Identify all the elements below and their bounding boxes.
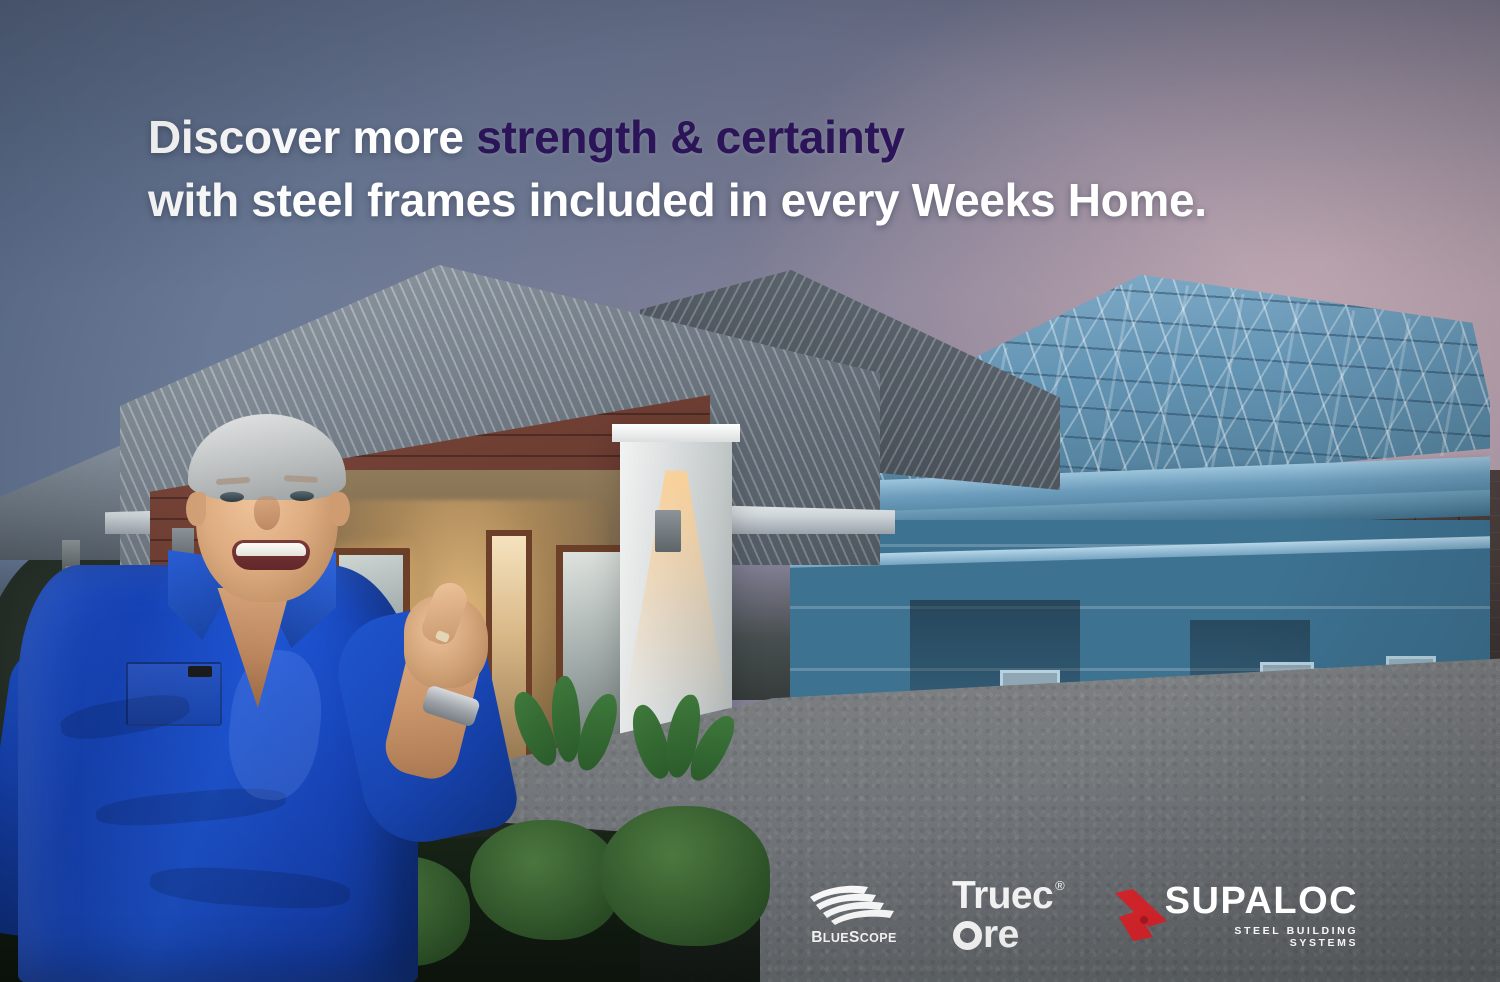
truecore-registered-mark: ® (1055, 878, 1065, 893)
wall-light-fixture-main (655, 510, 681, 552)
supaloc-wordmark: SUPALOC (1165, 882, 1358, 920)
teeth (236, 543, 306, 556)
mouth-smile (232, 540, 310, 570)
bluescope-s: S (849, 929, 860, 946)
headline-line-2: with steel frames included in every Week… (148, 169, 1348, 232)
bluescope-logo: BLUESCOPE (806, 884, 902, 947)
bluescope-wave-mark-icon (806, 884, 902, 926)
headline-lead-text: Discover more (148, 111, 476, 163)
partner-logo-bar: BLUESCOPE Truecre ® SUPALOC STEEL BU (806, 876, 1346, 954)
entry-pillar-cap (612, 424, 740, 442)
bluescope-wordmark: BLUESCOPE (811, 929, 897, 947)
truecore-wordmark: Truecre (952, 876, 1053, 954)
headline-line-1: Discover more strength & certainty (148, 106, 1348, 169)
presenter-person (0, 400, 520, 982)
ear-left (186, 492, 206, 526)
headline-accent-text: strength & certainty (476, 111, 905, 163)
bluescope-cope: COPE (860, 931, 897, 945)
supaloc-logo: SUPALOC STEEL BUILDING SYSTEMS (1113, 882, 1358, 949)
truecore-text-post: re (983, 913, 1019, 956)
nose (254, 496, 280, 530)
headline: Discover more strength & certainty with … (148, 106, 1348, 231)
ear-right (330, 492, 350, 526)
truecore-ring-o-icon (953, 921, 982, 950)
supaloc-text-block: SUPALOC STEEL BUILDING SYSTEMS (1165, 882, 1358, 949)
bluescope-b: B (811, 929, 823, 946)
eye-right (290, 491, 314, 501)
hair (188, 414, 346, 500)
advertising-banner: Discover more strength & certainty with … (0, 0, 1500, 982)
shirt-brand-tag (188, 666, 212, 677)
eye-left (220, 492, 244, 502)
truecore-logo: Truecre ® (952, 876, 1065, 954)
truecore-text-pre: Truec (952, 874, 1053, 917)
bluescope-lue: LUE (823, 931, 849, 945)
supaloc-tagline: STEEL BUILDING SYSTEMS (1165, 925, 1358, 949)
